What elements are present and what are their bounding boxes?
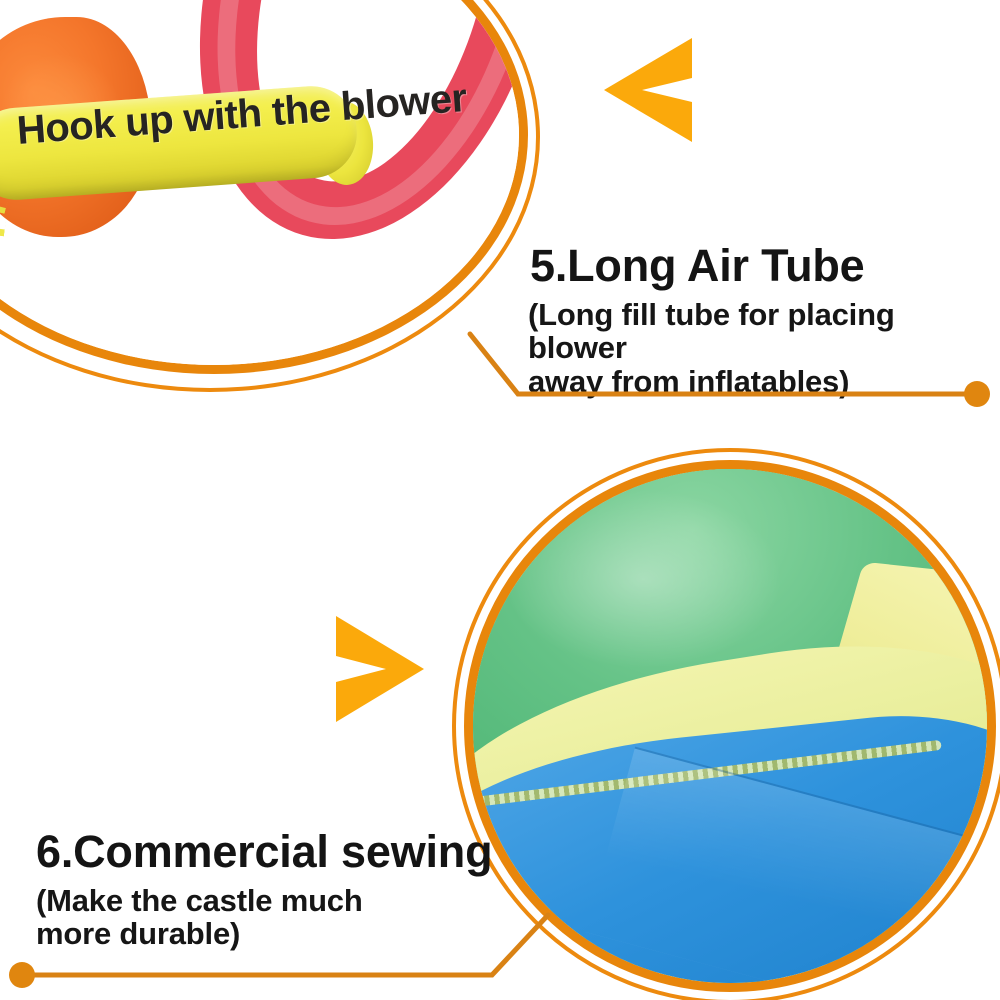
connector-dot-icon bbox=[964, 381, 990, 407]
long-air-tube-photo-circle: Hook up with the blower bbox=[0, 0, 528, 374]
chevron-left-icon bbox=[596, 34, 700, 151]
chevron-right-icon bbox=[326, 612, 432, 731]
feature-6-connector bbox=[0, 820, 620, 1000]
connector-dot-icon bbox=[9, 962, 35, 988]
feature-5-connector bbox=[430, 320, 1000, 420]
long-air-tube-photo: Hook up with the blower bbox=[0, 0, 519, 365]
feature-5-title: 5.Long Air Tube bbox=[530, 240, 864, 292]
product-feature-infographic: Hook up with the blower 5.Long Air Tube … bbox=[0, 0, 1000, 1000]
fabric-highlight bbox=[503, 489, 783, 669]
feature-5-connector-line bbox=[470, 334, 970, 394]
feature-6-connector-line bbox=[33, 915, 548, 975]
